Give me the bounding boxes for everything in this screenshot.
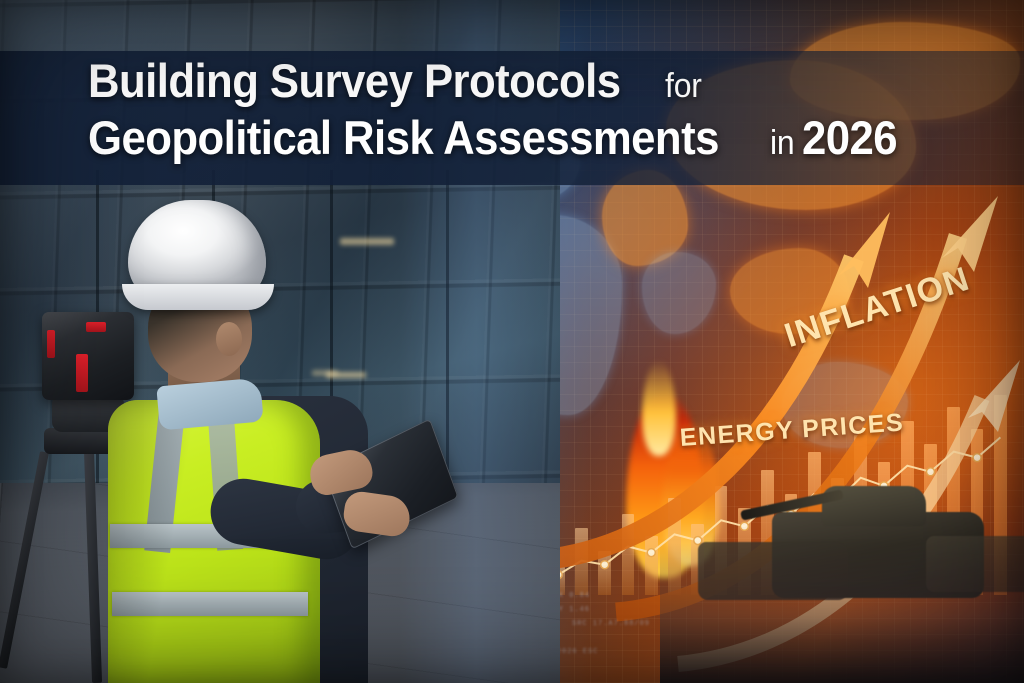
title-line-2: Geopolitical Risk Assessmentsin2026 xyxy=(88,114,968,161)
hard-hat-brim xyxy=(122,284,274,310)
hero-image: RISK INDEX 0.84 VOLATILITY 1.46 SRC 17.A… xyxy=(0,0,1024,683)
title-line1-light: for xyxy=(665,69,702,103)
title-line2-light: in xyxy=(770,126,795,160)
title-line1-strong: Building Survey Protocols xyxy=(88,57,621,104)
worker-ear xyxy=(216,322,242,356)
shirt-collar xyxy=(156,378,263,431)
total-station-accent-top xyxy=(86,322,106,332)
title-line2-strong-b: 2026 xyxy=(802,114,897,161)
title-line2-strong-a: Geopolitical Risk Assessments xyxy=(88,114,719,161)
battlefield-haze xyxy=(660,543,1024,683)
interior-light xyxy=(340,238,394,245)
page-title: Building Survey Protocolsfor Geopolitica… xyxy=(88,57,968,161)
title-line-1: Building Survey Protocolsfor xyxy=(88,57,968,104)
interior-light xyxy=(312,370,338,376)
total-station-accent-front xyxy=(76,354,88,392)
total-station-accent-side xyxy=(47,330,55,358)
